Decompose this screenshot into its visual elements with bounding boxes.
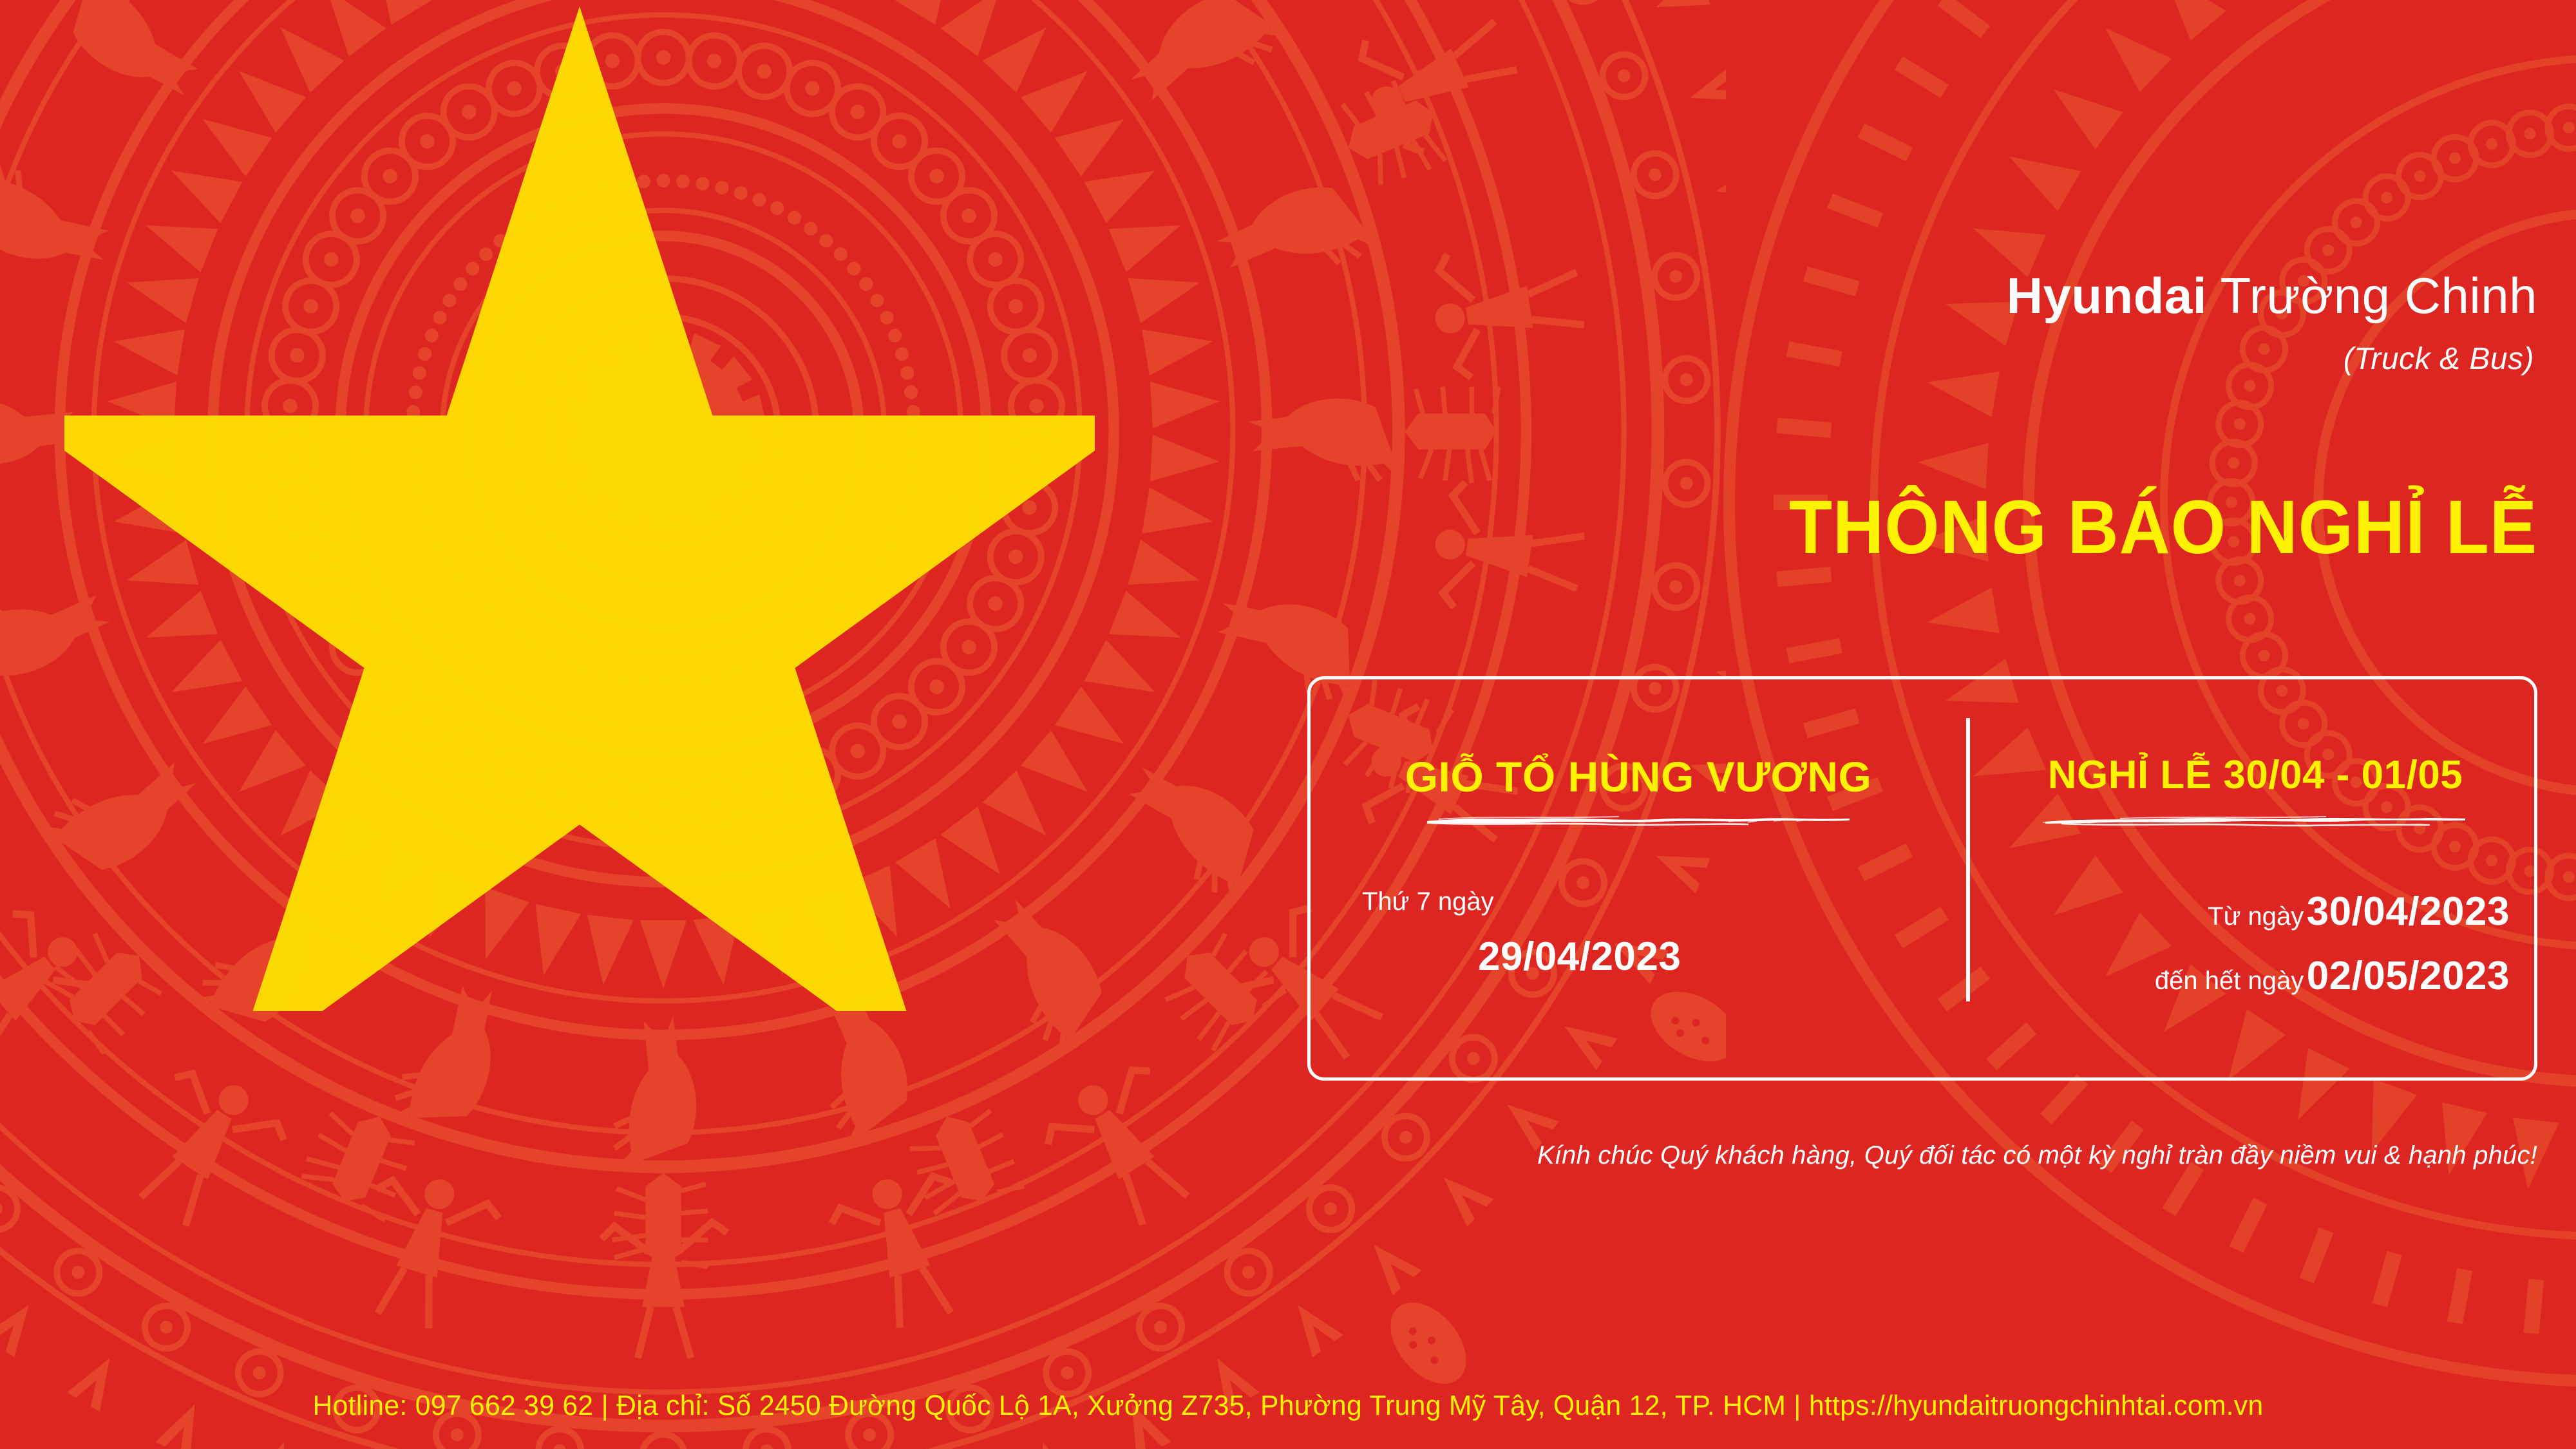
- date-value: 29/04/2023: [1478, 934, 1681, 979]
- date-label: Thứ 7 ngày: [1362, 887, 1494, 916]
- date-from-value: 30/04/2023: [2307, 889, 2510, 934]
- date-line-weekday: Thứ 7 ngày: [1362, 889, 1494, 914]
- footer-contact-info: Hotline: 097 662 39 62 | Địa chỉ: Số 245…: [39, 1390, 2537, 1422]
- brand-name-rest: Trường Chinh: [2207, 267, 2537, 324]
- holiday-info-box: GIỖ TỔ HÙNG VƯƠNG Thứ 7 ngày 29/04/2023 …: [1307, 676, 2537, 1081]
- poster-canvas: Hyundai Trường Chinh (Truck & Bus) THÔNG…: [0, 0, 2576, 1449]
- brand-name-bold: Hyundai: [2007, 267, 2207, 324]
- date-line-value: 29/04/2023: [1478, 937, 1681, 977]
- brush-divider-right: [2043, 811, 2468, 828]
- date-from-label: Từ ngày: [2208, 902, 2304, 931]
- panel-title-right: NGHỈ LỄ 30/04 - 01/05: [1970, 755, 2541, 795]
- content-column: Hyundai Trường Chinh (Truck & Bus) THÔNG…: [1262, 0, 2550, 1449]
- date-to-value: 02/05/2023: [2307, 954, 2510, 998]
- vietnam-flag-star: [64, 6, 1095, 1011]
- page-title: THÔNG BÁO NGHỈ LỄ: [1340, 489, 2537, 565]
- date-line-from: Từ ngày 30/04/2023: [2208, 892, 2510, 932]
- brush-divider-left: [1426, 811, 1851, 828]
- date-to-label: đến hết ngày: [2155, 967, 2304, 995]
- brand-subtitle: (Truck & Bus): [1246, 341, 2534, 377]
- date-line-to: đến hết ngày 02/05/2023: [2155, 956, 2510, 996]
- panel-national-holiday: NGHỈ LỄ 30/04 - 01/05 Từ ngày 30/04/2023…: [1970, 679, 2541, 1077]
- greeting-message: Kính chúc Quý khách hàng, Quý đối tác có…: [1249, 1141, 2537, 1170]
- brand-title: Hyundai Trường Chinh: [1249, 270, 2537, 321]
- panel-hung-king: GIỖ TỔ HÙNG VƯƠNG Thứ 7 ngày 29/04/2023: [1311, 679, 1966, 1077]
- panel-title-left: GIỖ TỔ HÙNG VƯƠNG: [1311, 755, 1966, 798]
